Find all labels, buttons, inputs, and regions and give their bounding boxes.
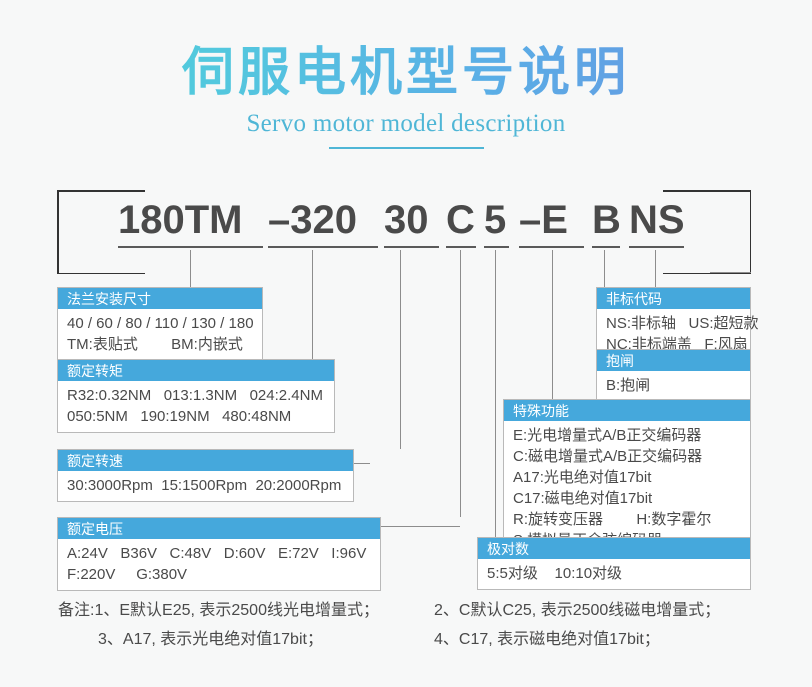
page-subtitle: Servo motor model description xyxy=(0,110,812,138)
info-box-special-title: 特殊功能 xyxy=(504,400,750,421)
info-line: R:旋转变压器 H:数字霍尔 xyxy=(513,509,741,530)
info-line: F:220V G:380V xyxy=(67,564,371,585)
info-line: E:光电增量式A/B正交编码器 xyxy=(513,425,741,446)
info-box-poles: 极对数 5:5对级 10:10对级 xyxy=(477,537,751,590)
note-2: 2、C默认C25, 表示2500线磁电增量式； xyxy=(434,596,720,625)
info-line: 40 / 60 / 80 / 110 / 130 / 180 xyxy=(67,313,253,334)
model-segment-nonstd: NS xyxy=(629,196,684,248)
info-line: TM:表贴式 BM:内嵌式 xyxy=(67,334,253,355)
model-segment-speed: 30 xyxy=(384,196,439,248)
info-box-torque-title: 额定转矩 xyxy=(58,360,334,381)
model-segment-poles: 5 xyxy=(484,196,509,248)
info-line: B:抱闸 xyxy=(606,375,741,396)
info-box-voltage: 额定电压 A:24V B36V C:48V D:60V E:72V I:96V … xyxy=(57,517,381,591)
model-segment-flange: 180TM xyxy=(118,196,263,248)
info-box-voltage-title: 额定电压 xyxy=(58,518,380,539)
info-box-brake-title: 抱闸 xyxy=(597,350,750,371)
info-box-flange: 法兰安装尺寸 40 / 60 / 80 / 110 / 130 / 180 TM… xyxy=(57,287,263,361)
info-line: 050:5NM 190:19NM 480:48NM xyxy=(67,406,325,427)
info-line: R32:0.32NM 013:1.3NM 024:2.4NM xyxy=(67,385,325,406)
info-box-special: 特殊功能 E:光电增量式A/B正交编码器 C:磁电增量式A/B正交编码器 A17… xyxy=(503,399,751,557)
info-line: C17:磁电绝对值17bit xyxy=(513,488,741,509)
page-title-block: 伺服电机型号说明 Servo motor model description xyxy=(0,42,812,149)
info-line: 30:3000Rpm 15:1500Rpm 20:2000Rpm xyxy=(67,475,344,496)
model-segment-special: –E xyxy=(519,196,584,248)
info-line: NS:非标轴 US:超短款 xyxy=(606,313,741,334)
info-box-speed-title: 额定转速 xyxy=(58,450,353,471)
note-4: 4、C17, 表示磁电绝对值17bit； xyxy=(434,625,660,654)
info-box-speed: 额定转速 30:3000Rpm 15:1500Rpm 20:2000Rpm xyxy=(57,449,354,502)
info-box-torque: 额定转矩 R32:0.32NM 013:1.3NM 024:2.4NM 050:… xyxy=(57,359,335,433)
diagram-root: 伺服电机型号说明 Servo motor model description 1… xyxy=(0,0,812,687)
model-segment-torque: –320 xyxy=(268,196,378,248)
info-box-flange-title: 法兰安装尺寸 xyxy=(58,288,262,309)
model-code: 180TM –320 30 C 5 –E B NS xyxy=(0,196,812,256)
info-line: 5:5对级 10:10对级 xyxy=(487,563,741,584)
info-line: A17:光电绝对值17bit xyxy=(513,467,741,488)
info-line: C:磁电增量式A/B正交编码器 xyxy=(513,446,741,467)
notes-block: 备注:1、E默认E25, 表示2500线光电增量式； 2、C默认C25, 表示2… xyxy=(0,596,812,654)
title-underline-rule xyxy=(329,147,484,149)
page-title: 伺服电机型号说明 xyxy=(0,42,812,104)
info-line: A:24V B36V C:48V D:60V E:72V I:96V xyxy=(67,543,371,564)
model-segment-voltage: C xyxy=(446,196,476,248)
info-box-brake: 抱闸 B:抱闸 xyxy=(596,349,751,402)
info-box-nonstd-title: 非标代码 xyxy=(597,288,750,309)
info-box-poles-title: 极对数 xyxy=(478,538,750,559)
note-1: 备注:1、E默认E25, 表示2500线光电增量式； xyxy=(58,596,379,625)
note-3: 3、A17, 表示光电绝对值17bit； xyxy=(98,625,323,654)
model-segment-brake: B xyxy=(592,196,620,248)
